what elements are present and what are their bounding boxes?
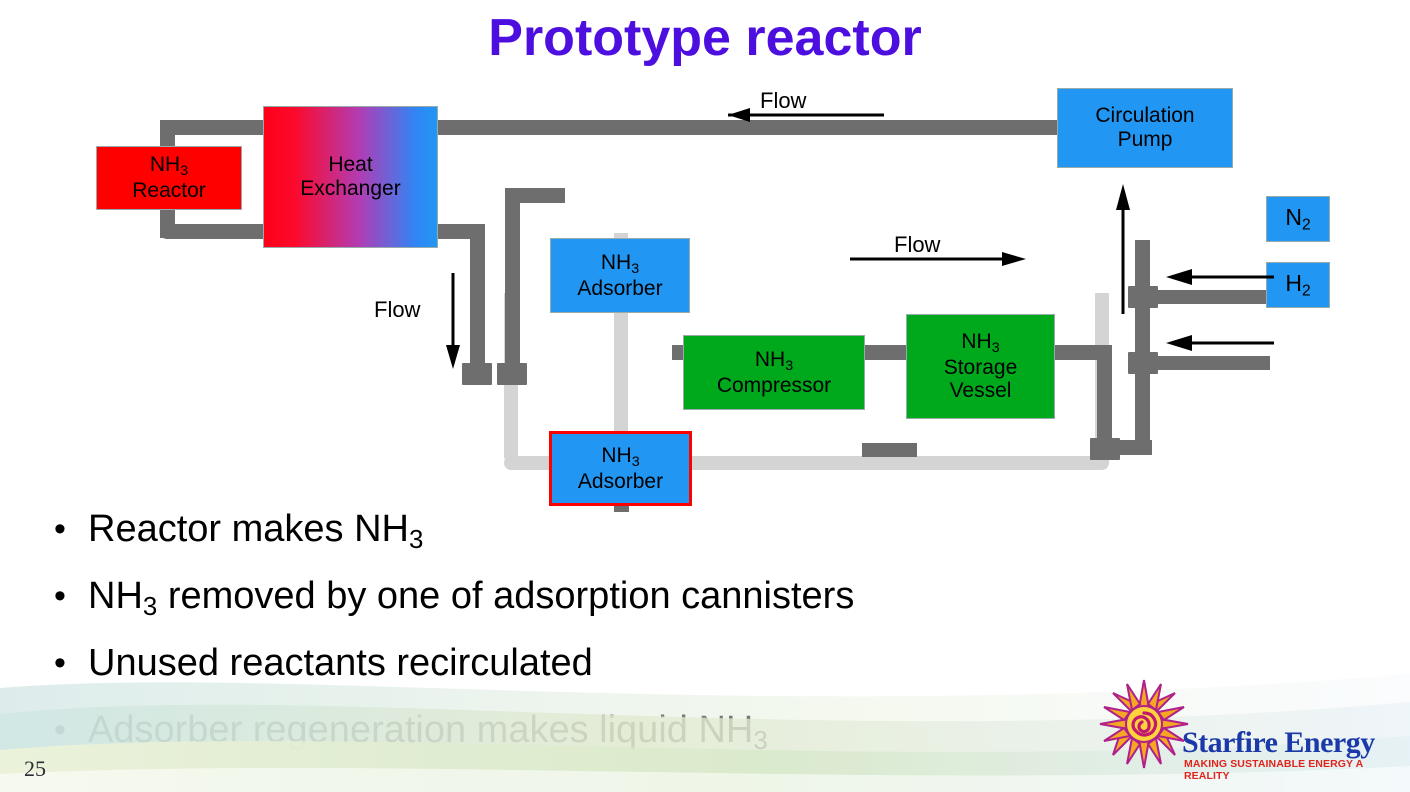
bullet-2-sub: 3 bbox=[143, 593, 157, 621]
node-nh3-adsorber-top-label-2: Adsorber bbox=[577, 277, 662, 300]
bullet-2-pre: NH bbox=[88, 575, 143, 617]
node-nh3-reactor[interactable]: NH3 Reactor bbox=[96, 146, 242, 210]
flow-label-left: Flow bbox=[374, 297, 420, 323]
node-nh3-compressor-sub: 3 bbox=[785, 358, 793, 374]
slide-canvas: Prototype reactor bbox=[0, 0, 1410, 792]
page-number: 25 bbox=[24, 756, 46, 782]
node-nh3-reactor-sub: 3 bbox=[180, 163, 188, 179]
node-nh3-storage-vessel[interactable]: NH3 Storage Vessel bbox=[906, 314, 1055, 419]
node-nh3-adsorber-top-label-1: NH bbox=[601, 251, 631, 274]
node-circulation-pump[interactable]: Circulation Pump bbox=[1057, 88, 1233, 168]
list-item: NH3 removed by one of adsorption cannist… bbox=[46, 563, 1246, 630]
pipe-h2-supply-line bbox=[1152, 356, 1270, 370]
node-nh3-adsorber-top[interactable]: NH3 Adsorber bbox=[550, 238, 690, 313]
node-h2-supply-sub: 2 bbox=[1302, 282, 1311, 299]
bullet-1-sub: 3 bbox=[409, 526, 423, 554]
pipe-joint-lower-left bbox=[462, 363, 492, 385]
node-nh3-compressor[interactable]: NH3 Compressor bbox=[683, 335, 865, 410]
sun-spiral-icon bbox=[1100, 680, 1188, 768]
flow-arrow-pump-up-icon bbox=[1113, 184, 1133, 316]
flow-arrow-h2-left-icon bbox=[1166, 334, 1276, 352]
node-nh3-reactor-label-2: Reactor bbox=[132, 179, 206, 202]
node-circulation-pump-label-1: Circulation bbox=[1095, 104, 1194, 127]
node-nh3-adsorber-bottom-label-2: Adsorber bbox=[578, 470, 663, 493]
pipe-pump-downcomer bbox=[1135, 240, 1150, 455]
bullet-2-post: removed by one of adsorption cannisters bbox=[157, 575, 854, 617]
logo-tagline: MAKING SUSTAINABLE ENERGY A REALITY bbox=[1184, 758, 1410, 782]
pipe-compressor-to-storage bbox=[862, 443, 917, 457]
node-nh3-storage-vessel-label-3: Vessel bbox=[950, 379, 1012, 402]
node-nh3-compressor-label-2: Compressor bbox=[717, 374, 831, 397]
node-nh3-reactor-label-1: NH bbox=[150, 153, 180, 176]
flow-arrow-middle-right-icon bbox=[848, 250, 1028, 268]
page-title: Prototype reactor bbox=[0, 8, 1410, 68]
node-nh3-adsorber-bottom-sub: 3 bbox=[632, 454, 640, 470]
node-heat-exchanger-label-2: Exchanger bbox=[300, 177, 400, 200]
node-nh3-adsorber-bottom[interactable]: NH3 Adsorber bbox=[549, 431, 692, 506]
node-h2-supply-label: H bbox=[1285, 270, 1302, 296]
node-nh3-storage-vessel-label-1: NH bbox=[961, 330, 991, 353]
node-n2-supply[interactable]: N2 bbox=[1266, 196, 1330, 242]
node-n2-supply-label: N bbox=[1285, 204, 1302, 230]
node-nh3-storage-vessel-sub: 3 bbox=[992, 340, 1000, 356]
node-heat-exchanger[interactable]: Heat Exchanger bbox=[263, 106, 438, 248]
node-nh3-adsorber-top-sub: 3 bbox=[631, 261, 639, 277]
pipe-to-adsorber-top bbox=[505, 188, 520, 370]
node-n2-supply-sub: 2 bbox=[1302, 216, 1311, 233]
node-circulation-pump-label-2: Pump bbox=[1118, 128, 1173, 151]
pipe-hx-downcomer bbox=[470, 224, 485, 372]
logo-wordmark: Starfire Energy bbox=[1182, 726, 1410, 760]
pipe-joint-right-bottom bbox=[1090, 438, 1120, 460]
process-flow-diagram: NH3 Reactor Heat Exchanger Circulation P… bbox=[0, 80, 1410, 500]
flow-arrow-left-down-icon bbox=[443, 273, 463, 371]
node-nh3-compressor-label-1: NH bbox=[755, 348, 785, 371]
node-nh3-storage-vessel-label-2: Storage bbox=[944, 356, 1018, 379]
node-nh3-adsorber-bottom-label-1: NH bbox=[601, 444, 631, 467]
node-heat-exchanger-label-1: Heat bbox=[328, 153, 372, 176]
pipe-n2-supply-line bbox=[1152, 290, 1270, 304]
pipe-adsorber-top-inlet bbox=[505, 188, 565, 203]
flow-arrow-n2-left-icon bbox=[1166, 268, 1276, 286]
bullet-1-pre: Reactor makes NH bbox=[88, 508, 409, 550]
flow-arrow-top-left-icon bbox=[706, 106, 886, 124]
list-item: Reactor makes NH3 bbox=[46, 496, 1246, 563]
